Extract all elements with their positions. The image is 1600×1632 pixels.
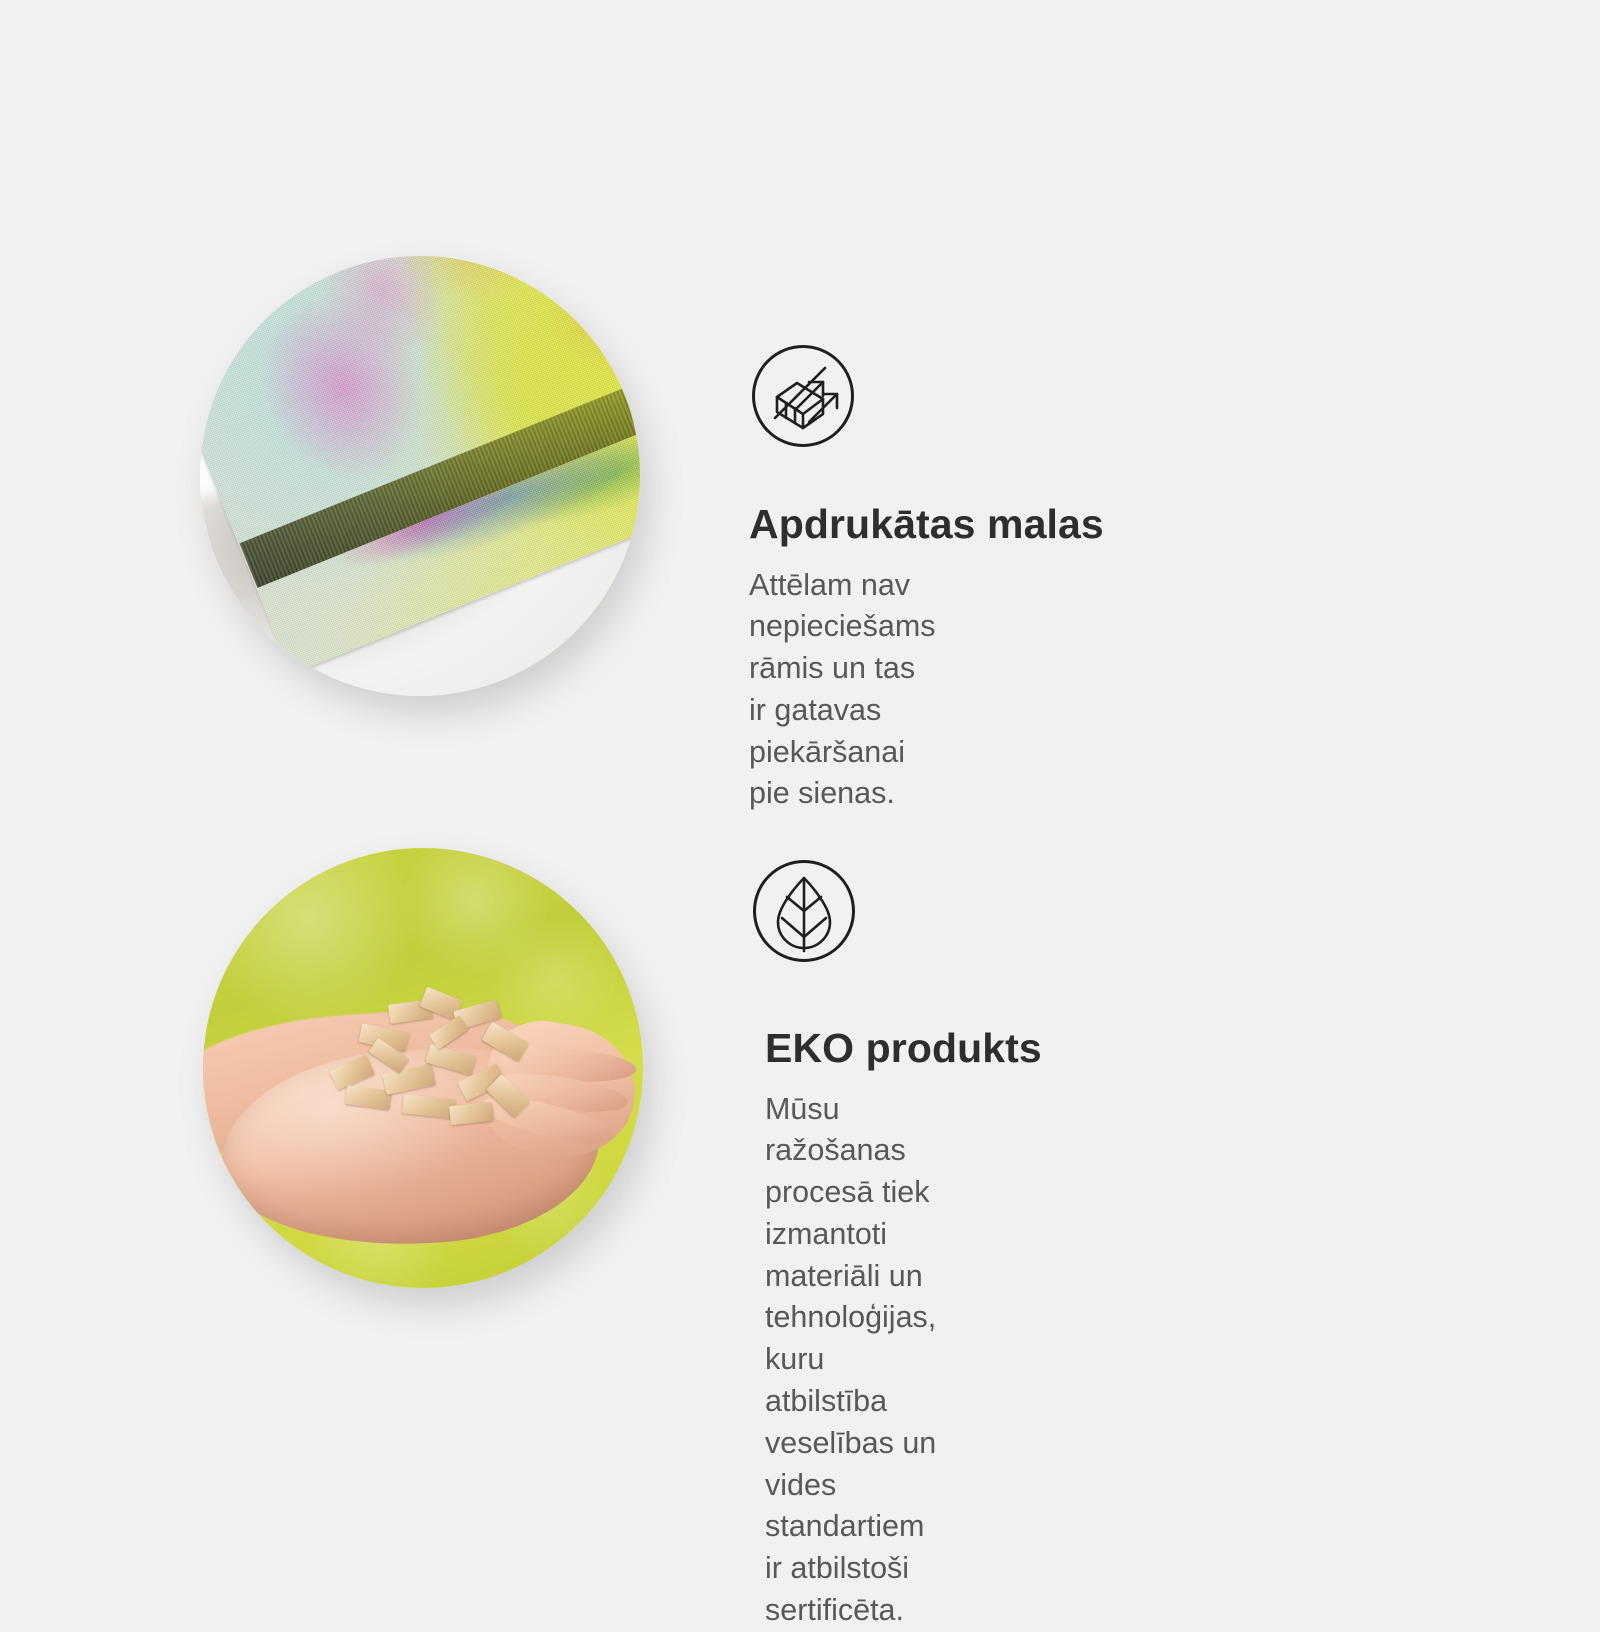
feature-title-printed-edges: Apdrukātas malas: [749, 501, 1104, 548]
feature-description-printed-edges: Attēlam nav nepieciešams rāmis un tas ir…: [749, 565, 935, 816]
eko-media: [203, 848, 663, 1308]
canvas-wrapped-edge-arrows-icon: [751, 344, 855, 448]
printed-canvas-circle-photo: [200, 256, 640, 696]
feature-title-eko: EKO produkts: [765, 1025, 1042, 1072]
wood-chip: [481, 1021, 528, 1060]
wood-chip: [430, 1016, 469, 1050]
printed-canvas-photo: [200, 256, 640, 696]
feature-list-page: Apdrukātas malas Attēlam nav nepieciešam…: [0, 0, 1600, 1600]
wood-chip: [450, 1101, 495, 1124]
feature-description-eko: Mūsu ražošanas procesā tiek izmantoti ma…: [765, 1089, 936, 1632]
wood-chip: [382, 1064, 435, 1095]
wood-chips-photo: [203, 848, 643, 1288]
leaf-icon: [752, 859, 856, 963]
eko-circle-photo: [203, 848, 643, 1288]
wood-chip: [402, 1095, 456, 1119]
printed-canvas-media: [200, 256, 660, 716]
wood-chips-cluster: [317, 980, 555, 1138]
